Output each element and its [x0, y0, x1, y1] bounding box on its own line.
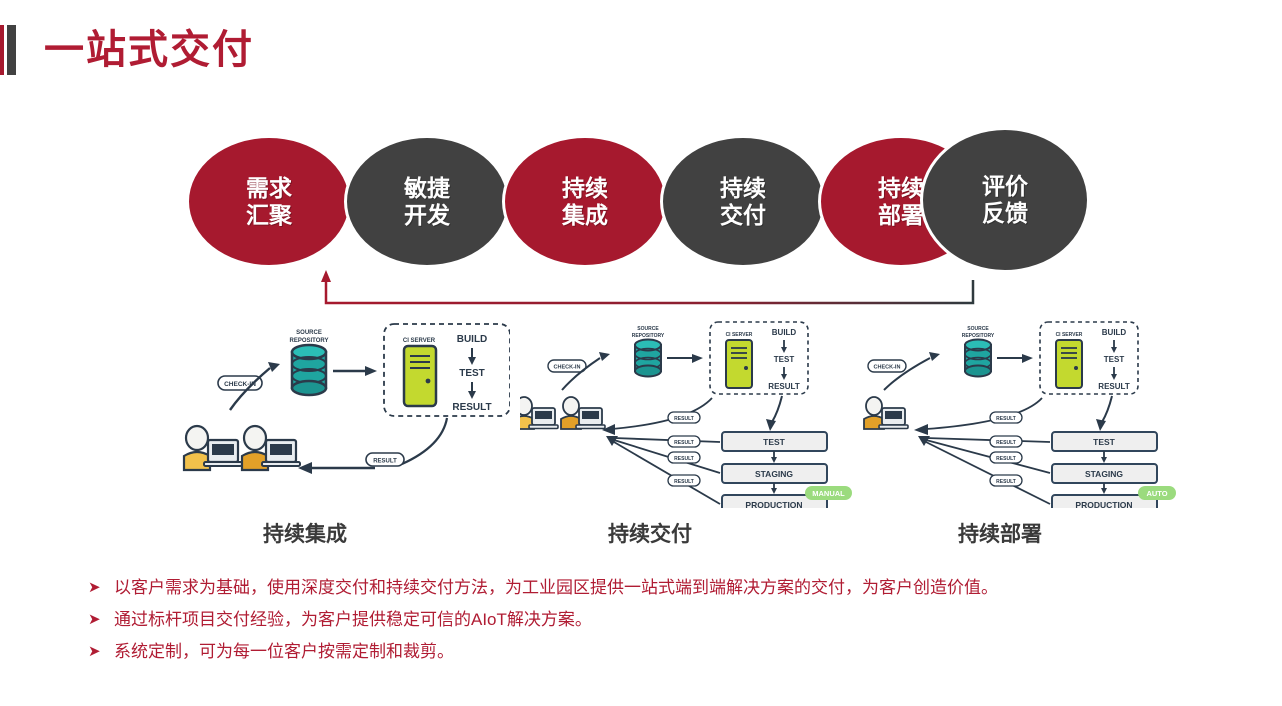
developer-icon-2	[242, 426, 300, 470]
source-repository-label: SOURCE	[637, 326, 659, 332]
diagram-continuous-deployment: SOURCE REPOSITORY CHECK-IN CI SERVER	[850, 318, 1190, 508]
bullet-item: ➤ 以客户需求为基础，使用深度交付和持续交付方法，为工业园区提供一站式端到端解决…	[88, 575, 1238, 601]
source-repository-label2: REPOSITORY	[289, 338, 328, 344]
svg-text:RESULT: RESULT	[674, 479, 694, 485]
stage-result: RESULT	[768, 382, 800, 391]
svg-text:RESULT: RESULT	[674, 416, 694, 422]
pipeline-circle-label: 需求 汇聚	[246, 175, 292, 229]
stage-box-label: PRODUCTION	[1075, 500, 1132, 508]
stage-box-label: TEST	[1093, 437, 1116, 447]
ci-server-label: CI SERVER	[1056, 332, 1083, 338]
ci-server-label: CI SERVER	[403, 338, 436, 344]
diagram-caption-row: 持续集成 持续交付 持续部署	[0, 518, 1282, 552]
stage-build: BUILD	[1102, 328, 1127, 337]
bullet-item: ➤ 通过标杆项目交付经验，为客户提供稳定可信的AIoT解决方案。	[88, 607, 1238, 633]
result-badge: RESULT	[668, 452, 700, 463]
stage-box-label: STAGING	[1085, 469, 1123, 479]
checkin-badge: CHECK-IN	[548, 360, 586, 372]
bullet-marker-icon: ➤	[88, 607, 114, 633]
ci-server-label: CI SERVER	[726, 332, 753, 338]
bullet-text: 通过标杆项目交付经验，为客户提供稳定可信的AIoT解决方案。	[114, 607, 1238, 633]
stage-box-test: TEST	[722, 432, 827, 451]
source-repository-label: SOURCE	[296, 330, 322, 336]
pipeline-circle-label: 持续 集成	[562, 175, 608, 229]
svg-text:RESULT: RESULT	[674, 456, 694, 462]
result-badge: RESULT	[990, 452, 1022, 463]
result-badge: RESULT	[990, 436, 1022, 447]
title-accent-bar-red	[0, 25, 4, 75]
stage-test: TEST	[459, 368, 485, 379]
diagram-caption-continuous-integration: 持续集成	[155, 518, 455, 548]
title-accent-bar-gray	[7, 25, 16, 75]
svg-text:RESULT: RESULT	[996, 416, 1016, 422]
pipeline-circle-agile-dev[interactable]: 敏捷 开发	[344, 135, 510, 268]
result-badge: RESULT	[668, 436, 700, 447]
svg-text:RESULT: RESULT	[996, 479, 1016, 485]
bullet-text: 系统定制，可为每一位客户按需定制和裁剪。	[114, 639, 1238, 665]
result-badge: RESULT	[990, 475, 1022, 486]
stage-box-label: STAGING	[755, 469, 793, 479]
source-repository-label2: REPOSITORY	[962, 333, 995, 339]
stage-build: BUILD	[457, 334, 488, 345]
stage-result: RESULT	[1098, 382, 1130, 391]
stage-test: TEST	[1104, 355, 1125, 364]
developer-icon-2	[561, 397, 605, 429]
developer-icon-1	[864, 397, 908, 429]
pipeline-circle-evaluation-feedback[interactable]: 评价 反馈	[920, 127, 1090, 273]
developer-icon-1	[184, 426, 242, 470]
source-repository-label2: REPOSITORY	[632, 333, 665, 339]
stage-box-label: TEST	[763, 437, 786, 447]
checkin-badge: CHECK-IN	[218, 376, 262, 390]
stage-box-label: PRODUCTION	[745, 500, 802, 508]
ci-server-icon	[726, 340, 752, 388]
ci-server-icon	[404, 346, 436, 406]
ci-server-icon	[1056, 340, 1082, 388]
checkin-badge: CHECK-IN	[868, 360, 906, 372]
bullet-marker-icon: ➤	[88, 639, 114, 665]
pipeline-circle-label: 持续 部署	[878, 175, 924, 229]
svg-text:RESULT: RESULT	[996, 456, 1016, 462]
svg-text:CHECK-IN: CHECK-IN	[874, 365, 901, 371]
pipeline-circle-label: 持续 交付	[720, 175, 766, 229]
cicd-diagram-row: SOURCE REPOSITORY CHECK-IN	[0, 318, 1282, 518]
deployment-mode-badge: MANUAL	[805, 486, 852, 500]
pipeline-circle-continuous-integration[interactable]: 持续 集成	[502, 135, 668, 268]
pipeline-circle-label: 评价 反馈	[982, 173, 1028, 227]
source-repository-icon	[635, 340, 661, 377]
pipeline-circle-row: 需求 汇聚 敏捷 开发 持续 集成 持续 交付 持续 部署 评价 反馈	[0, 130, 1282, 280]
stage-test: TEST	[774, 355, 795, 364]
source-repository-icon	[292, 345, 326, 395]
stage-box-staging: STAGING	[1052, 464, 1157, 483]
svg-text:RESULT: RESULT	[996, 440, 1016, 446]
result-badge: RESULT	[668, 412, 700, 423]
deployment-mode-badge-label: MANUAL	[812, 489, 845, 498]
deployment-mode-badge: AUTO	[1138, 486, 1176, 500]
diagram-caption-continuous-delivery: 持续交付	[500, 518, 800, 548]
result-badge: RESULT	[366, 453, 404, 466]
pipeline-circle-requirements[interactable]: 需求 汇聚	[186, 135, 352, 268]
deployment-mode-badge-label: AUTO	[1146, 489, 1167, 498]
bullet-text: 以客户需求为基础，使用深度交付和持续交付方法，为工业园区提供一站式端到端解决方案…	[114, 575, 1238, 601]
result-badge: RESULT	[668, 475, 700, 486]
source-repository-icon	[965, 340, 991, 377]
developer-icon-1	[520, 397, 558, 429]
svg-text:RESULT: RESULT	[373, 459, 397, 465]
stage-box-staging: STAGING	[722, 464, 827, 483]
source-repository-label: SOURCE	[967, 326, 989, 332]
result-badge: RESULT	[990, 412, 1022, 423]
diagram-continuous-delivery: SOURCE REPOSITORY CHECK-IN CI SERVER	[520, 318, 860, 508]
stage-box-test: TEST	[1052, 432, 1157, 451]
stage-build: BUILD	[772, 328, 797, 337]
svg-text:RESULT: RESULT	[674, 440, 694, 446]
stage-result: RESULT	[452, 402, 491, 413]
diagram-caption-continuous-deployment: 持续部署	[850, 518, 1150, 548]
bullet-list: ➤ 以客户需求为基础，使用深度交付和持续交付方法，为工业园区提供一站式端到端解决…	[88, 575, 1238, 671]
svg-text:CHECK-IN: CHECK-IN	[554, 365, 581, 371]
page-title: 一站式交付	[44, 24, 254, 76]
bullet-marker-icon: ➤	[88, 575, 114, 601]
diagram-continuous-integration: SOURCE REPOSITORY CHECK-IN	[170, 318, 510, 508]
pipeline-circle-label: 敏捷 开发	[404, 175, 450, 229]
bullet-item: ➤ 系统定制，可为每一位客户按需定制和裁剪。	[88, 639, 1238, 665]
pipeline-circle-continuous-delivery[interactable]: 持续 交付	[660, 135, 826, 268]
